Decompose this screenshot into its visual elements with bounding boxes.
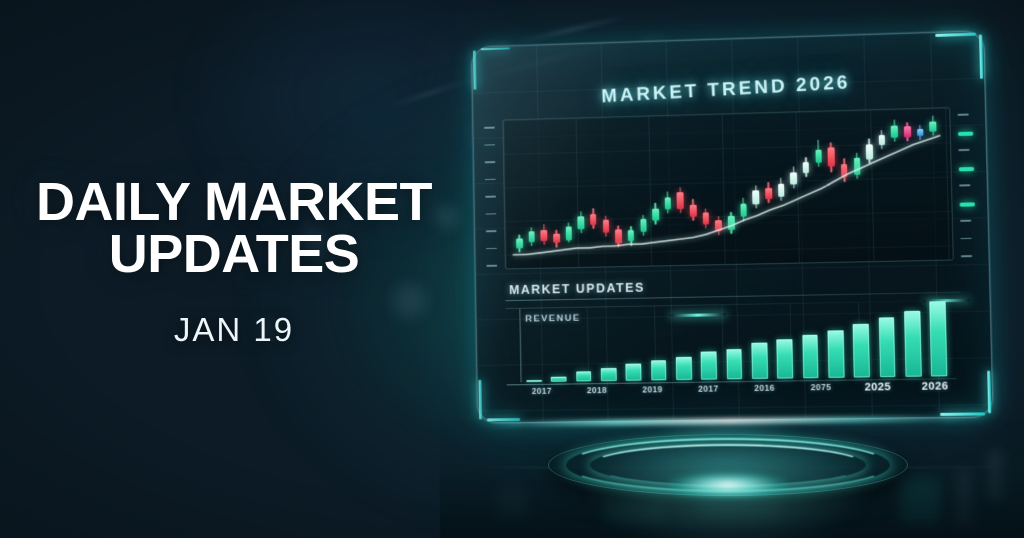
candlestick-body — [803, 162, 810, 173]
axis-tick — [486, 247, 497, 249]
candlestick-wick — [768, 182, 770, 203]
headline-line-1: DAILY MARKET — [36, 172, 432, 232]
axis-tick — [485, 178, 496, 180]
candlestick-wick — [843, 158, 845, 181]
candlestick-body — [828, 148, 835, 167]
axis-tick — [961, 255, 972, 257]
candlestick-body — [891, 125, 898, 138]
candlestick-wick — [755, 185, 757, 208]
poster-canvas: DAILY MARKET UPDATES JAN 19 MARKET TREND… — [0, 0, 1024, 538]
axis-tick — [960, 220, 971, 222]
bar-grid — [520, 301, 952, 382]
candlestick-wick — [805, 157, 807, 178]
bar — [651, 360, 667, 380]
axis-tick — [960, 237, 971, 239]
candlestick — [852, 113, 862, 258]
x-axis-label: 2026 — [922, 380, 949, 393]
candlestick-wick — [906, 122, 908, 141]
candlestick — [789, 114, 799, 258]
hologram-screen: MARKET TREND 2026 MARKET UPDATES REVENUE — [471, 30, 993, 423]
bar — [551, 376, 567, 381]
highlight-marker — [670, 313, 726, 317]
candlestick-body — [765, 188, 772, 199]
axis-tick — [485, 213, 496, 215]
axis-tick — [484, 127, 495, 129]
candlestick-body — [740, 203, 747, 217]
candlestick — [776, 115, 786, 259]
y-axis-right-ticks — [957, 113, 975, 253]
bar-chart-panel: MARKET UPDATES REVENUE 20172018201920172… — [505, 275, 957, 401]
x-axis-label: 2025 — [865, 381, 892, 394]
candlestick-wick — [817, 140, 819, 168]
bar — [904, 311, 922, 377]
y-axis-left-ticks — [484, 127, 500, 263]
axis-tick — [484, 144, 495, 146]
price-level-marker — [958, 131, 973, 135]
candlestick-body — [904, 126, 911, 137]
bar-plot-area — [519, 301, 952, 382]
axis-tick — [959, 184, 970, 186]
candlestick-body — [753, 191, 760, 205]
hologram-pedestal — [548, 424, 908, 520]
candlestick-wick — [881, 130, 883, 149]
candlestick-body — [853, 158, 860, 175]
x-axis-label: 2017 — [532, 386, 552, 396]
axis-tick — [485, 196, 496, 198]
page-title: DAILY MARKET UPDATES — [0, 176, 468, 281]
bar — [676, 357, 692, 380]
bar — [576, 372, 592, 382]
x-axis-label: 2018 — [587, 385, 607, 395]
candlestick — [916, 111, 926, 256]
x-axis-label: 2016 — [754, 383, 775, 393]
candlestick-wick — [856, 153, 858, 179]
candlestick-body — [815, 149, 822, 163]
x-axis-label: 2019 — [642, 384, 663, 394]
bar — [930, 301, 948, 376]
candlestick-wick — [894, 120, 896, 142]
candlestick-body — [790, 172, 797, 185]
bar — [879, 317, 896, 377]
candlestick — [891, 111, 901, 256]
headline-line-2: UPDATES — [0, 228, 468, 280]
candlestick-body — [778, 183, 785, 197]
bar — [701, 351, 717, 379]
trend-line — [503, 108, 952, 270]
highlight-marker — [923, 299, 970, 303]
bar — [853, 324, 870, 377]
candlestick-body — [930, 121, 937, 131]
date-label: JAN 19 — [0, 311, 468, 349]
candlestick-wick — [780, 178, 782, 201]
axis-tick — [486, 230, 497, 232]
candlestick-body — [879, 135, 886, 145]
candlestick — [802, 114, 812, 259]
axis-tick — [957, 114, 968, 116]
axis-tick — [486, 265, 497, 267]
axis-tick — [958, 149, 969, 151]
candlestick-wick — [793, 167, 795, 189]
bar — [626, 364, 642, 381]
candlestick-wick — [743, 198, 745, 221]
bar — [751, 343, 767, 379]
bar-chart-title: MARKET UPDATES — [509, 281, 645, 297]
axis-tick — [485, 161, 496, 163]
bar — [802, 335, 819, 378]
bar — [828, 330, 845, 378]
candlestick — [878, 112, 888, 257]
poster-copy: DAILY MARKET UPDATES JAN 19 — [0, 176, 468, 349]
screen-surface: MARKET TREND 2026 MARKET UPDATES REVENUE — [471, 30, 993, 423]
price-level-marker — [960, 202, 975, 206]
bar — [601, 368, 617, 382]
candlestick-wick — [830, 142, 832, 172]
candlestick-body — [866, 144, 873, 159]
bar — [726, 349, 742, 380]
candlestick-wick — [868, 138, 870, 163]
candlestick — [904, 111, 914, 256]
candlestick-body — [841, 164, 848, 178]
candlestick — [764, 115, 774, 259]
candlestick-wick — [932, 116, 934, 135]
x-axis-label: 2075 — [811, 382, 832, 392]
candlestick — [751, 115, 761, 259]
candlestick — [929, 110, 939, 255]
bar — [777, 339, 794, 379]
bar — [526, 380, 541, 382]
candlestick-wick — [919, 125, 921, 140]
candlestick — [840, 113, 850, 258]
candlestick — [827, 113, 837, 258]
candlestick — [814, 114, 824, 259]
pedestal-core-light — [668, 472, 788, 498]
x-axis-label: 2017 — [698, 383, 719, 393]
candlestick-panel — [502, 107, 953, 269]
candlestick — [865, 112, 875, 257]
price-level-marker — [959, 166, 974, 170]
candlestick-body — [917, 129, 924, 136]
